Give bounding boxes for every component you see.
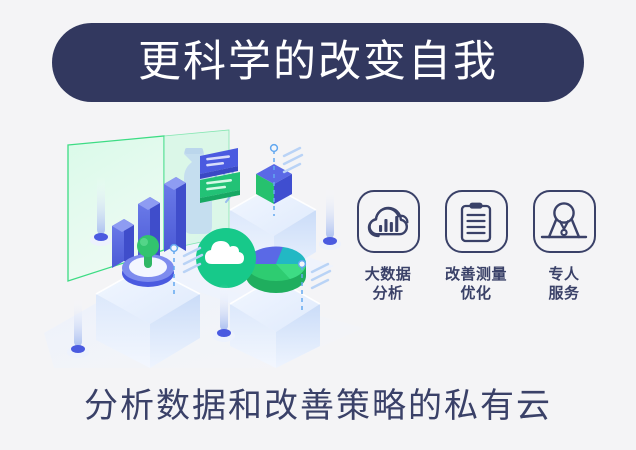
cloud-bar-chart-icon-frame — [357, 190, 420, 253]
feature-list: 大数据 分析 改善测量 优化 — [352, 190, 600, 330]
cloud-badge — [196, 228, 256, 288]
feature-item-measurement-optimization[interactable]: 改善测量 优化 — [440, 190, 512, 330]
promo-graphic: 更科学的改变自我 — [0, 0, 636, 450]
feature-item-big-data-analysis[interactable]: 大数据 分析 — [352, 190, 424, 330]
feature-label-big-data-analysis: 大数据 分析 — [365, 265, 412, 303]
cloud-bar-chart-icon — [366, 203, 410, 241]
feature-label-line2: 分析 — [365, 284, 412, 303]
feature-label-line1: 大数据 — [365, 266, 412, 283]
clipboard-icon-frame — [445, 190, 508, 253]
illustration-isometric-cloud-scene — [34, 118, 364, 368]
feature-label-line1: 专人 — [548, 266, 579, 283]
tagline: 分析数据和改善策略的私有云 — [0, 386, 636, 427]
feature-item-dedicated-service[interactable]: 专人 服务 — [528, 190, 600, 330]
feature-label-line2: 服务 — [548, 284, 579, 303]
feature-label-measurement-optimization: 改善测量 优化 — [445, 265, 507, 303]
feature-label-line1: 改善测量 — [445, 266, 507, 283]
support-agent-icon — [540, 201, 588, 243]
feature-label-line2: 优化 — [445, 284, 507, 303]
support-agent-icon-frame — [533, 190, 596, 253]
clipboard-icon — [459, 201, 493, 243]
page-title: 更科学的改变自我 — [138, 41, 498, 84]
feature-label-dedicated-service: 专人 服务 — [548, 265, 579, 303]
title-banner: 更科学的改变自我 — [52, 23, 584, 102]
